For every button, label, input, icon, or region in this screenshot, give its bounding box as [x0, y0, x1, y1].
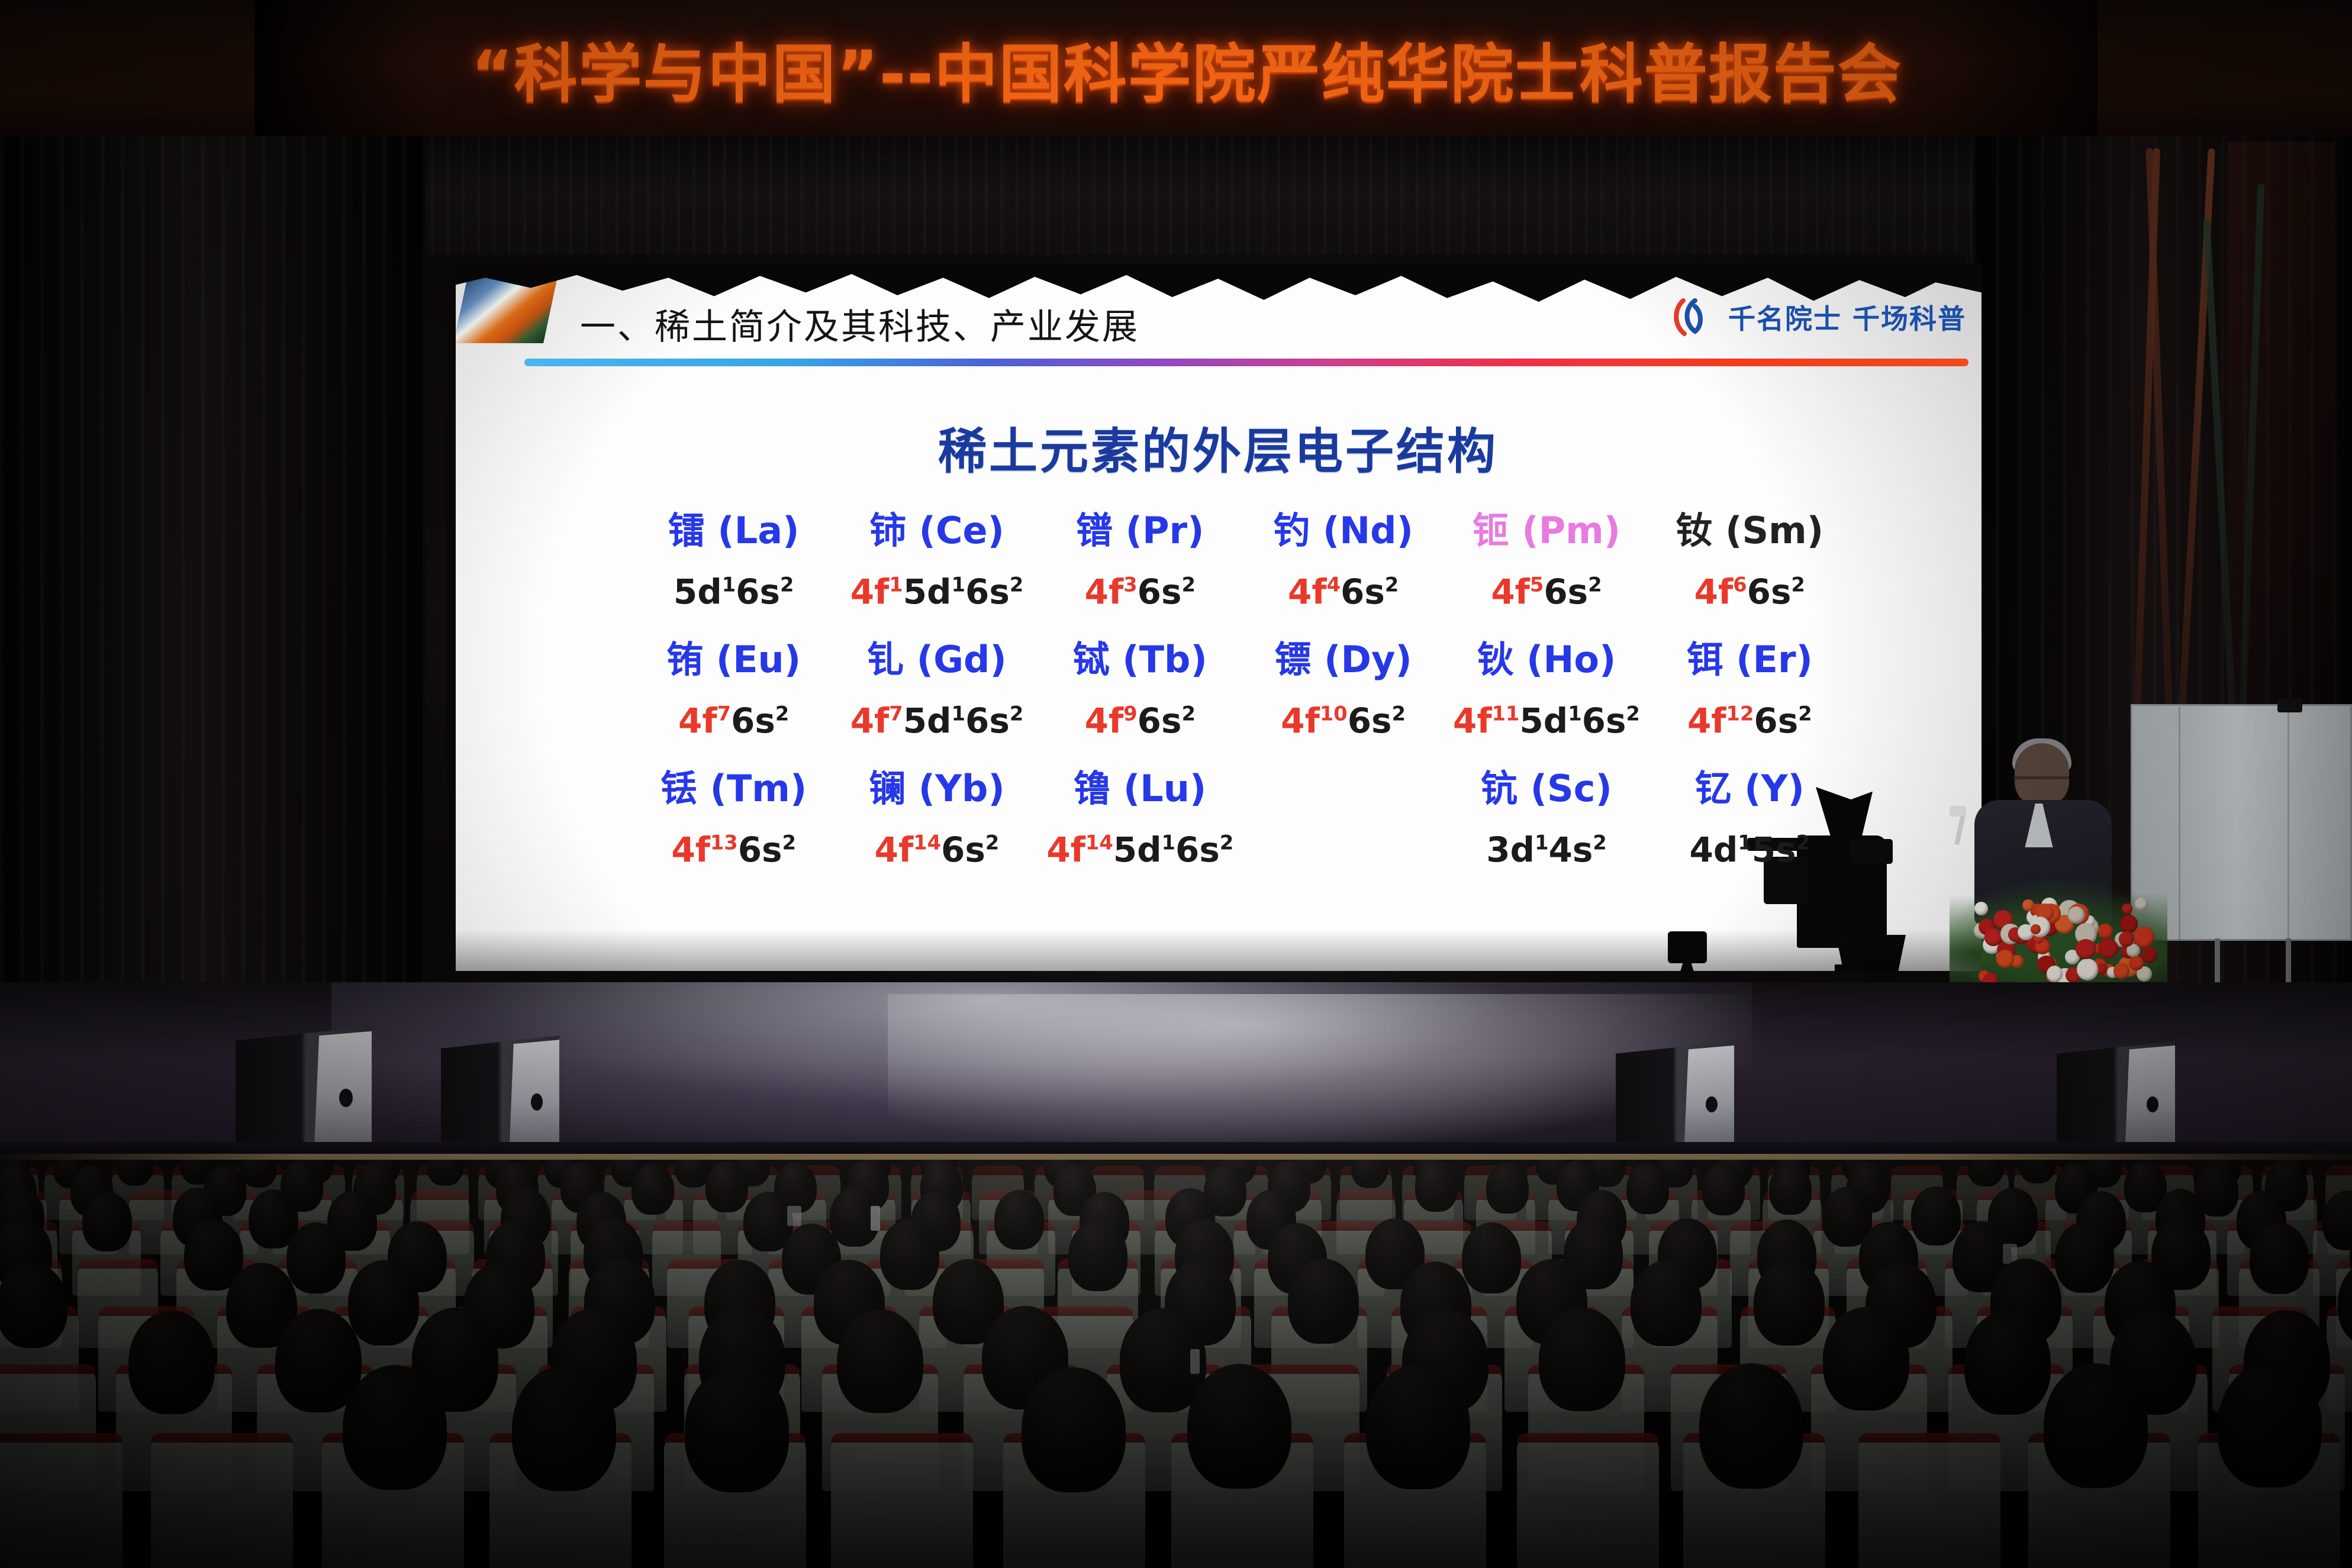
electron-config: 4f106s2	[1281, 701, 1406, 741]
electron-config: 5d16s2	[674, 572, 794, 612]
element-symbol: 镭 (La)	[668, 501, 800, 554]
electron-config-cell: 4f46s2	[1242, 560, 1445, 624]
presentation-slide: 一、稀土简介及其科技、产业发展 千名院士 千场科普 稀土元素的外层电子结构 镭 …	[455, 264, 1982, 971]
electron-config-cell: 4d15s2	[1648, 818, 1851, 882]
element-symbol-cell: 铈 (Ce)	[835, 495, 1038, 560]
element-symbol: 铽 (Tb)	[1073, 630, 1207, 683]
projection-screen: 一、稀土简介及其科技、产业发展 千名院士 千场科普 稀土元素的外层电子结构 镭 …	[455, 264, 1982, 986]
electron-configuration-table: 镭 (La)铈 (Ce)镨 (Pr)钓 (Nd)钷 (Pm)钕 (Sm)5d16…	[632, 495, 1851, 882]
electron-config: 4f46s2	[1288, 572, 1399, 612]
slide-header: 一、稀土简介及其科技、产业发展 千名院士 千场科普	[455, 280, 1982, 357]
element-symbol-cell: 钪 (Sc)	[1445, 753, 1648, 818]
element-symbol: 镖 (Dy)	[1275, 630, 1412, 683]
element-symbol-cell: 钕 (Sm)	[1648, 495, 1851, 560]
element-symbol: 铒 (Er)	[1687, 630, 1813, 683]
element-symbol: 钕 (Sm)	[1676, 501, 1824, 554]
electron-config: 4d15s2	[1690, 830, 1810, 870]
element-symbol-cell: 铥 (Tm)	[632, 753, 835, 818]
electron-config: 4f136s2	[671, 830, 796, 870]
flower-blossom	[2047, 966, 2063, 982]
flower-blossom	[1996, 950, 2014, 967]
element-symbol-cell: 钆 (Gd)	[835, 624, 1038, 689]
electron-config-cell: 4f56s2	[1445, 560, 1648, 624]
element-symbol: 铈 (Ce)	[869, 501, 1004, 554]
element-symbol-cell: 钓 (Nd)	[1242, 495, 1445, 560]
lecture-hall-photo: “科学与中国”--中国科学院严纯华院士科普报告会 一、稀土简介及其科技、产业发展	[0, 0, 2352, 1568]
speaker-glasses	[2012, 776, 2069, 786]
screen-bottom-shade	[455, 930, 1982, 971]
electron-config-cell: 4f146s2	[835, 818, 1038, 882]
electron-config-cell: 3d14s2	[1445, 818, 1648, 882]
electron-config-cell: 5d16s2	[632, 560, 835, 624]
element-symbol: 钬 (Ho)	[1477, 630, 1616, 683]
element-symbol-cell: 镖 (Dy)	[1242, 624, 1445, 689]
stage-monitor-1	[236, 1027, 372, 1142]
electron-config: 4f66s2	[1694, 572, 1805, 612]
element-symbol: 钆 (Gd)	[867, 630, 1007, 683]
stage-monitor-3	[1616, 1041, 1734, 1143]
whiteboard-fold-right	[2287, 707, 2289, 940]
electron-config-cell: 4f36s2	[1039, 560, 1242, 624]
flower-blossom	[2077, 959, 2098, 980]
event-banner: “科学与中国”--中国科学院严纯华院士科普报告会	[0, 0, 2352, 136]
electron-config-cell: 4f96s2	[1039, 689, 1242, 753]
flower-blossom	[2135, 898, 2148, 911]
element-symbol: 钓 (Nd)	[1273, 501, 1413, 554]
element-symbol-cell: 钇 (Y)	[1648, 753, 1851, 818]
flower-blossom	[2098, 924, 2113, 939]
element-symbol-cell: 镭 (La)	[632, 495, 835, 560]
element-symbol-cell: 铒 (Er)	[1648, 624, 1851, 689]
electron-config-cell: 4f15d16s2	[835, 560, 1038, 624]
flower-blossom	[2031, 924, 2041, 934]
slide-logo-text: 千名院士 千场科普	[1728, 298, 1966, 337]
flower-blossom	[2098, 938, 2118, 959]
flower-blossom	[2122, 904, 2132, 914]
element-symbol-cell: 铕 (Eu)	[632, 624, 835, 689]
flower-blossom	[2068, 906, 2084, 923]
element-symbol: 铕 (Eu)	[666, 630, 801, 683]
electron-config: 4f56s2	[1491, 572, 1602, 612]
flower-blossom	[2022, 899, 2034, 911]
electron-config: 4f15d16s2	[850, 572, 1024, 612]
flower-blossom	[2129, 956, 2143, 970]
element-symbol-row: 镭 (La)铈 (Ce)镨 (Pr)钓 (Nd)钷 (Pm)钕 (Sm)	[632, 495, 1851, 560]
element-symbol: 镧 (Yb)	[869, 759, 1005, 812]
slide-section-heading: 一、稀土简介及其科技、产业发展	[580, 298, 1139, 350]
electron-config: 4f126s2	[1687, 701, 1812, 741]
whiteboard-clip	[2277, 698, 2302, 712]
element-symbol-cell: 钬 (Ho)	[1445, 624, 1648, 689]
element-symbol-row: 铥 (Tm)镧 (Yb)镥 (Lu)钪 (Sc)钇 (Y)	[632, 753, 1851, 818]
element-symbol: 镥 (Lu)	[1074, 759, 1206, 812]
electron-config-cell: 4f145d16s2	[1039, 818, 1242, 882]
swoosh-icon	[1671, 292, 1721, 342]
element-symbol: 钇 (Y)	[1695, 759, 1805, 812]
flower-blossom	[2134, 927, 2155, 948]
electron-config-row: 4f136s24f146s24f145d16s23d14s24d15s2	[632, 818, 1851, 882]
monitor-grille	[2125, 1046, 2175, 1143]
element-symbol-cell: 镧 (Yb)	[835, 753, 1038, 818]
electron-config-cell: 4f75d16s2	[835, 689, 1038, 753]
stage-monitor-4	[2057, 1041, 2175, 1143]
electron-config-cell: 4f106s2	[1242, 689, 1445, 753]
slide-gradient-rule	[524, 359, 1968, 366]
banner-title: “科学与中国”--中国科学院严纯华院士科普报告会	[471, 22, 1902, 114]
electron-config: 4f145d16s2	[1046, 830, 1233, 870]
element-symbol-cell: 铽 (Tb)	[1039, 624, 1242, 689]
electron-config-cell: 4f126s2	[1648, 689, 1851, 753]
element-symbol-cell	[1242, 753, 1445, 818]
element-symbol: 镨 (Pr)	[1076, 501, 1204, 554]
electron-config: 4f96s2	[1085, 701, 1196, 741]
electron-config-cell: 4f66s2	[1648, 560, 1851, 624]
slide-title: 稀土元素的外层电子结构	[455, 412, 1982, 482]
element-symbol: 钷 (Pm)	[1473, 501, 1620, 554]
element-symbol: 铥 (Tm)	[661, 759, 807, 812]
electron-config: 3d14s2	[1486, 830, 1607, 870]
stage-monitor-2	[441, 1035, 559, 1143]
element-symbol-cell: 镥 (Lu)	[1039, 753, 1242, 818]
monitor-port	[339, 1089, 353, 1107]
element-symbol-cell: 钷 (Pm)	[1445, 495, 1648, 560]
screen-left-edge	[446, 264, 456, 971]
electron-config: 4f36s2	[1085, 572, 1196, 612]
electron-config: 4f146s2	[875, 830, 1000, 870]
audience-seating	[0, 1160, 2352, 1568]
camera-viewfinder	[1850, 839, 1893, 864]
element-symbol-row: 铕 (Eu)钆 (Gd)铽 (Tb)镖 (Dy)钬 (Ho)铒 (Er)	[632, 624, 1851, 689]
audience-shadow-overlay	[0, 1160, 2352, 1568]
monitor-grille	[314, 1031, 372, 1142]
electron-config: 4f115d16s2	[1453, 701, 1640, 741]
element-symbol-cell: 镨 (Pr)	[1039, 495, 1242, 560]
monitor-grille	[510, 1040, 559, 1143]
electron-config-cell: 4f136s2	[632, 818, 835, 882]
electron-config-cell	[1242, 818, 1445, 882]
monitor-grille	[1684, 1046, 1734, 1143]
electron-config-cell: 4f115d16s2	[1445, 689, 1648, 753]
electron-config: 4f76s2	[678, 701, 789, 741]
electron-config-row: 4f76s24f75d16s24f96s24f106s24f115d16s24f…	[632, 689, 1851, 753]
element-symbol: 钪 (Sc)	[1481, 759, 1612, 812]
speaker-head	[2015, 743, 2069, 806]
banner-panel: “科学与中国”--中国科学院严纯华院士科普报告会	[284, 0, 2089, 136]
electron-config-row: 5d16s24f15d16s24f36s24f46s24f56s24f66s2	[632, 560, 1851, 624]
electron-config-cell: 4f76s2	[632, 689, 835, 753]
electron-config: 4f75d16s2	[850, 701, 1024, 741]
